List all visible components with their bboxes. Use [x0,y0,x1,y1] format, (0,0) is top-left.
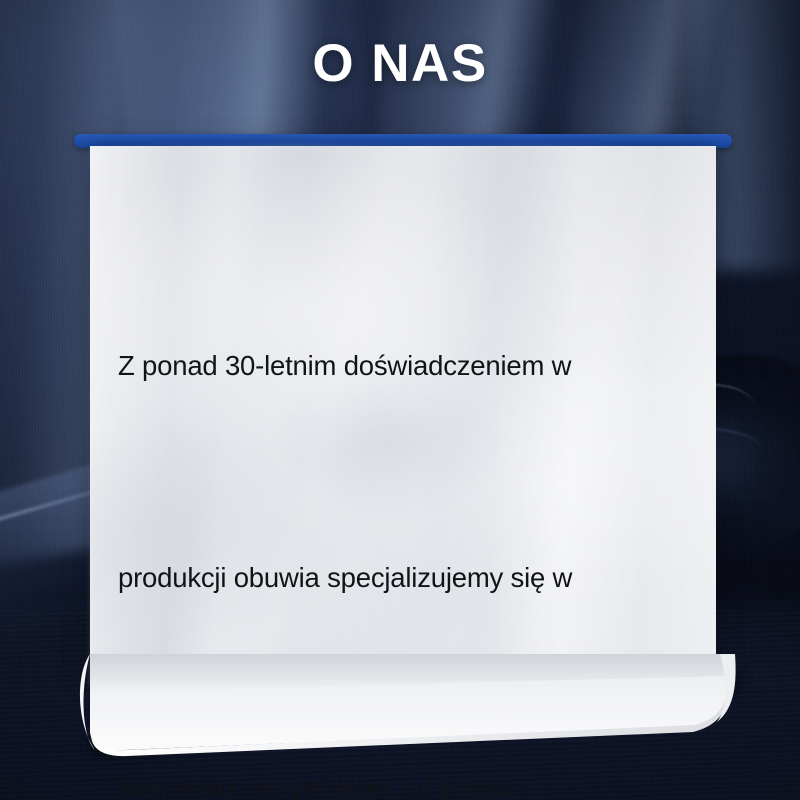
about-us-paper-card: Z ponad 30-letnim doświadczeniem w produ… [90,146,716,746]
about-us-body-text: Z ponad 30-letnim doświadczeniem w produ… [118,190,718,800]
body-line: Z ponad 30-letnim doświadczeniem w [118,331,718,402]
page-title: O NAS [0,37,800,90]
body-line: tworzeniu wszystkiego, od butów [118,754,718,800]
body-line: produkcji obuwia specjalizujemy się w [118,543,718,614]
about-us-banner: O NAS [0,0,800,800]
